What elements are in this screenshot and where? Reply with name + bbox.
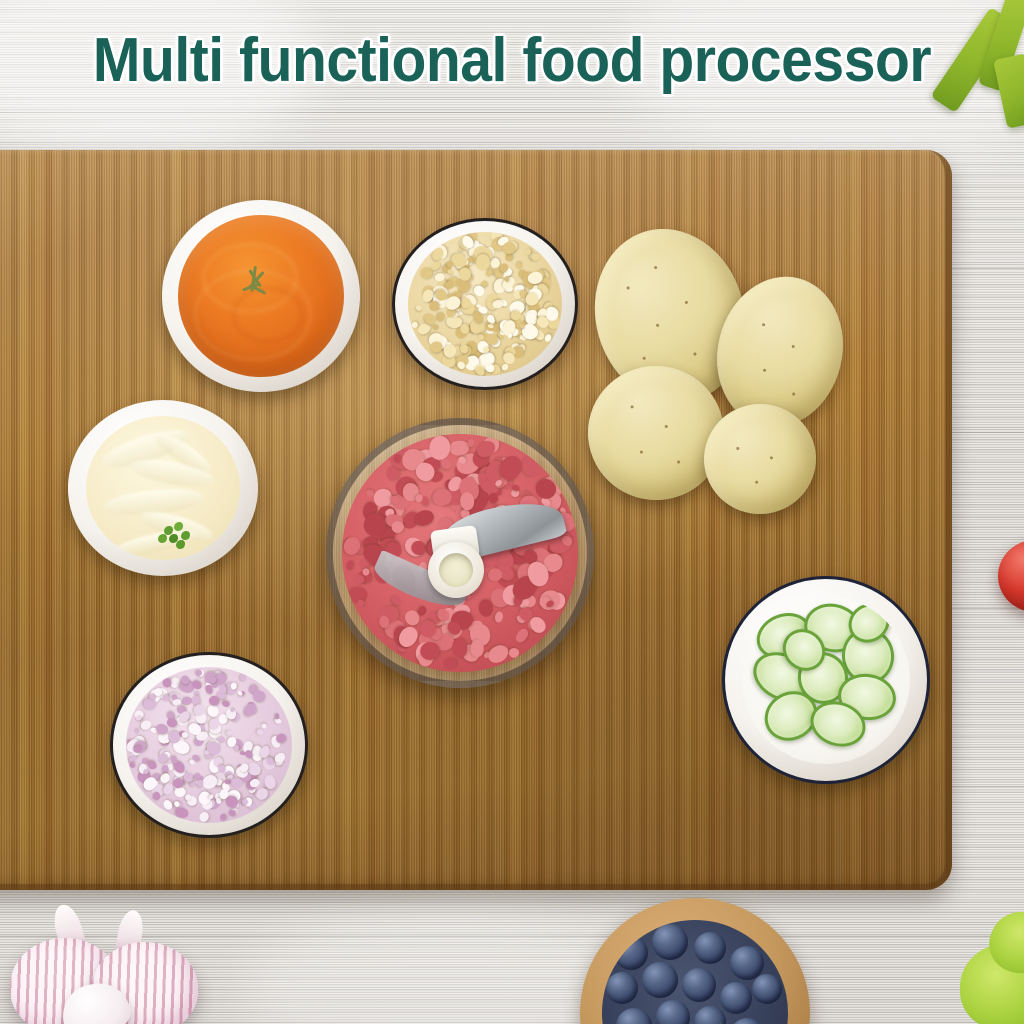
chopped-garlic-surface	[408, 232, 562, 376]
cucumber-slices	[742, 596, 910, 764]
chopped-garlic-bowl	[392, 218, 578, 390]
page-title: Multi functional food processor	[41, 30, 983, 92]
mashed-potato-bowl	[68, 400, 258, 576]
blueberries	[602, 920, 788, 1024]
cucumber-plate	[722, 576, 930, 784]
food-processor-bowl	[326, 418, 594, 688]
minced-onion-surface	[126, 667, 292, 823]
minced-onion-bowl	[110, 652, 308, 838]
processor-blade-hub	[428, 542, 484, 598]
tomato-soup-surface	[178, 215, 344, 377]
tomato-soup-bowl	[162, 200, 360, 392]
product-photo-scene: Multi functional food processor	[0, 0, 1024, 1024]
